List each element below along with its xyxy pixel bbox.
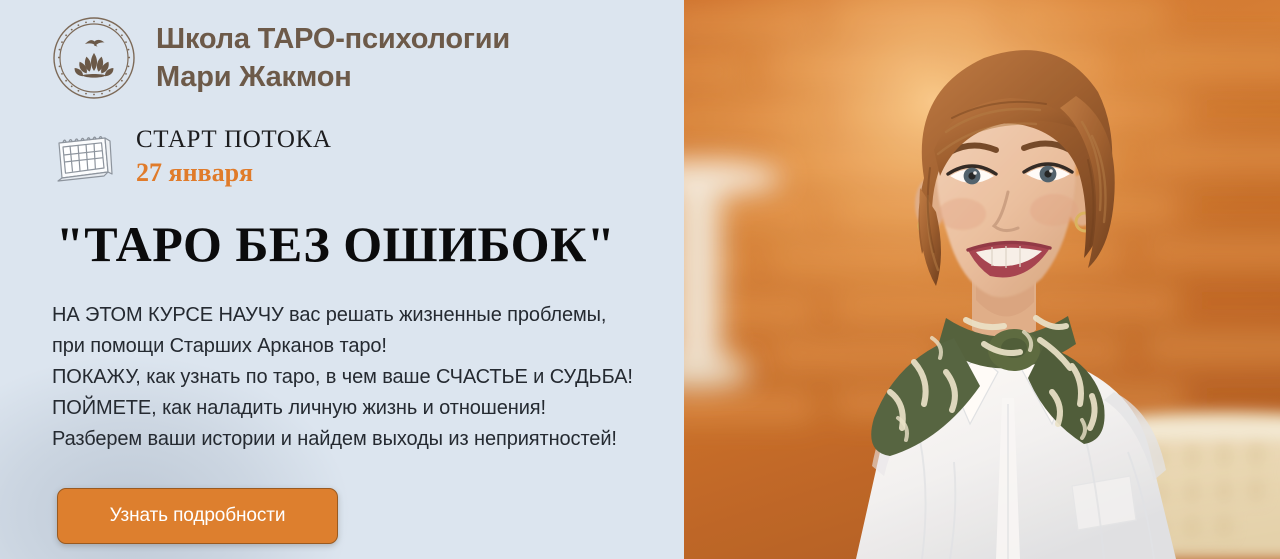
description-line: ПОКАЖУ, как узнать по таро, в чем ваше С… bbox=[52, 362, 652, 393]
brand-title: Школа ТАРО-психологии Мари Жакмон bbox=[156, 20, 510, 97]
brand-title-line-2: Мари Жакмон bbox=[156, 58, 510, 96]
landing-hero: Школа ТАРО-психологии Мари Жакмон bbox=[0, 0, 1280, 559]
lotus-bird-circular-emblem-icon bbox=[52, 16, 136, 100]
instructor-photo bbox=[684, 0, 1280, 559]
brand-title-line-1: Школа ТАРО-психологии bbox=[156, 20, 510, 58]
start-text-group: СТАРТ ПОТОКА 27 января bbox=[136, 126, 332, 188]
learn-more-button[interactable]: Узнать подробности bbox=[57, 488, 338, 544]
left-content-panel: Школа ТАРО-психологии Мари Жакмон bbox=[0, 0, 684, 559]
description-line: НА ЭТОМ КУРСЕ НАУЧУ вас решать жизненные… bbox=[52, 300, 652, 331]
start-label: СТАРТ ПОТОКА bbox=[136, 126, 332, 155]
start-date-block: СТАРТ ПОТОКА 27 января bbox=[52, 126, 332, 188]
description-line: ПОЙМЕТЕ, как наладить личную жизнь и отн… bbox=[52, 393, 652, 424]
start-date-value: 27 января bbox=[136, 157, 332, 188]
page-title: "ТАРО БЕЗ ОШИБОК" bbox=[56, 215, 615, 273]
description-block: НА ЭТОМ КУРСЕ НАУЧУ вас решать жизненные… bbox=[52, 300, 652, 455]
description-line: при помощи Старших Арканов таро! bbox=[52, 331, 652, 362]
brand-header: Школа ТАРО-психологии Мари Жакмон bbox=[52, 16, 510, 100]
desk-calendar-icon bbox=[52, 128, 114, 186]
description-line: Разберем ваши истории и найдем выходы из… bbox=[52, 424, 652, 455]
